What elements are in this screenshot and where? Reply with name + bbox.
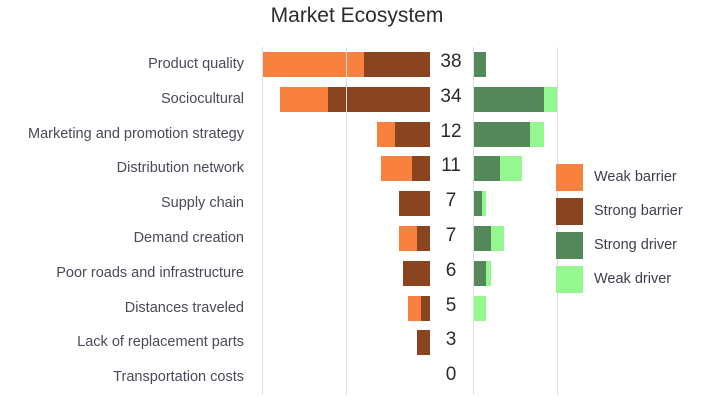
bar-segment-weak-driver (491, 226, 504, 251)
bar-value-label: 7 (431, 225, 471, 247)
bar-segment-weak-barrier (280, 87, 329, 112)
category-label: Demand creation (0, 221, 252, 256)
legend-item[interactable]: Strong barrier (556, 194, 706, 228)
bar-value-label: 11 (431, 155, 471, 177)
bar-segment-weak-driver (486, 261, 490, 286)
category-label: Poor roads and infrastructure (0, 256, 252, 291)
chart-legend: Weak barrierStrong barrierStrong driverW… (556, 160, 706, 296)
legend-label: Weak barrier (594, 169, 677, 185)
category-label: Product quality (0, 47, 252, 82)
bar-value-label: 34 (431, 86, 471, 108)
bar-value-label: 12 (431, 121, 471, 143)
category-axis-labels: Product qualitySocioculturalMarketing an… (0, 47, 252, 395)
bar-segment-weak-barrier (381, 156, 412, 181)
bar-row: 7 (262, 221, 500, 256)
category-label: Distribution network (0, 151, 252, 186)
legend-label: Strong driver (594, 237, 677, 253)
bar-row: 6 (262, 256, 500, 291)
bar-value-label: 3 (431, 329, 471, 351)
bar-segment-weak-barrier (408, 296, 421, 321)
gridline (473, 47, 474, 395)
legend-label: Weak driver (594, 271, 671, 287)
bar-row: 38 (262, 47, 500, 82)
bar-rows: 38341211776530 (262, 47, 500, 395)
bar-segment-strong-barrier (364, 52, 430, 77)
bar-row: 12 (262, 117, 500, 152)
legend-item[interactable]: Weak driver (556, 262, 706, 296)
bar-segment-strong-driver (473, 52, 486, 77)
bar-row: 5 (262, 291, 500, 326)
bar-segment-weak-driver (530, 122, 543, 147)
category-label: Marketing and promotion strategy (0, 117, 252, 152)
bar-segment-weak-barrier (399, 226, 417, 251)
category-label: Transportation costs (0, 360, 252, 395)
bar-segment-strong-barrier (328, 87, 430, 112)
market-ecosystem-chart: Market Ecosystem Product qualitySociocul… (0, 0, 714, 418)
legend-swatch (556, 198, 583, 225)
bar-segment-weak-driver (482, 191, 486, 216)
bar-segment-strong-barrier (403, 261, 430, 286)
bar-segment-strong-driver (473, 87, 544, 112)
bar-segment-weak-driver (544, 87, 557, 112)
bar-segment-weak-driver (500, 156, 522, 181)
bar-segment-strong-barrier (417, 226, 430, 251)
legend-swatch (556, 266, 583, 293)
legend-label: Strong barrier (594, 203, 683, 219)
bar-value-label: 6 (431, 260, 471, 282)
bar-segment-strong-driver (473, 191, 482, 216)
category-label: Distances traveled (0, 291, 252, 326)
bar-value-label: 38 (431, 51, 471, 73)
bar-value-label: 5 (431, 295, 471, 317)
bar-segment-strong-barrier (399, 191, 430, 216)
bar-segment-strong-driver (473, 122, 530, 147)
gridline (346, 47, 347, 395)
bar-segment-strong-barrier (417, 330, 430, 355)
legend-item[interactable]: Weak barrier (556, 160, 706, 194)
bar-segment-strong-driver (473, 261, 486, 286)
bar-segment-strong-barrier (395, 122, 430, 147)
plot-area: 38341211776530 (262, 47, 500, 395)
category-label: Supply chain (0, 186, 252, 221)
gridline (262, 47, 263, 395)
legend-swatch (556, 164, 583, 191)
bar-segment-weak-driver (473, 296, 486, 321)
bar-segment-weak-barrier (262, 52, 364, 77)
legend-item[interactable]: Strong driver (556, 228, 706, 262)
bar-row: 7 (262, 186, 500, 221)
bar-row: 0 (262, 360, 500, 395)
bar-value-label: 0 (431, 364, 471, 386)
bar-segment-strong-driver (473, 156, 500, 181)
bar-segment-weak-barrier (377, 122, 395, 147)
bar-row: 3 (262, 325, 500, 360)
bar-segment-strong-driver (473, 226, 491, 251)
bar-segment-strong-barrier (421, 296, 430, 321)
legend-swatch (556, 232, 583, 259)
category-label: Lack of replacement parts (0, 325, 252, 360)
bar-value-label: 7 (431, 190, 471, 212)
bar-segment-strong-barrier (412, 156, 430, 181)
bar-row: 11 (262, 151, 500, 186)
bar-row: 34 (262, 82, 500, 117)
category-label: Sociocultural (0, 82, 252, 117)
chart-title: Market Ecosystem (0, 4, 714, 28)
